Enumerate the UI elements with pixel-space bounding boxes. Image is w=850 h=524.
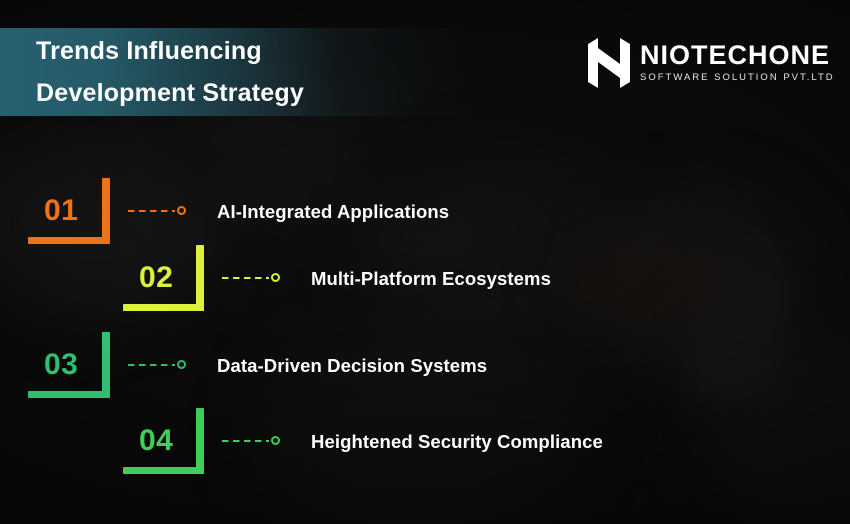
page-title: Trends Influencing Development Strategy <box>36 30 516 114</box>
bracket-horizontal <box>123 304 204 311</box>
item-number: 02 <box>139 263 173 293</box>
connector-circle-icon <box>177 360 186 369</box>
logo-tagline: SOFTWARE SOLUTION PVT.LTD <box>640 71 835 85</box>
connector-dashes <box>222 277 269 279</box>
connector-circle-icon <box>271 273 280 282</box>
item-connector-04 <box>222 436 280 445</box>
connector-circle-icon <box>177 206 186 215</box>
item-label: Multi-Platform Ecosystems <box>311 268 551 290</box>
logo-company-name: NIOTECHONE <box>640 41 835 69</box>
connector-dashes <box>128 210 175 212</box>
bracket-vertical <box>196 245 204 311</box>
item-connector-01 <box>128 206 186 215</box>
item-number: 01 <box>44 196 78 226</box>
item-label: Heightened Security Compliance <box>311 431 603 453</box>
bracket-horizontal <box>28 391 110 398</box>
item-connector-02 <box>222 273 280 282</box>
connector-dashes <box>128 364 175 366</box>
bracket-vertical <box>196 408 204 474</box>
bracket-horizontal <box>123 467 204 474</box>
item-label: AI-Integrated Applications <box>217 201 449 223</box>
item-number: 04 <box>139 426 173 456</box>
item-connector-03 <box>128 360 186 369</box>
item-label: Data-Driven Decision Systems <box>217 355 487 377</box>
connector-circle-icon <box>271 436 280 445</box>
item-number: 03 <box>44 350 78 380</box>
bracket-vertical <box>102 178 110 244</box>
brand-logo[interactable]: NIOTECHONE SOFTWARE SOLUTION PVT.LTD <box>588 38 835 88</box>
niotechone-n-mark-icon <box>588 38 630 88</box>
connector-dashes <box>222 440 269 442</box>
bracket-horizontal <box>28 237 110 244</box>
logo-wordmark: NIOTECHONE SOFTWARE SOLUTION PVT.LTD <box>640 41 835 85</box>
slide-canvas: Trends Influencing Development Strategy … <box>0 0 850 524</box>
bracket-vertical <box>102 332 110 398</box>
